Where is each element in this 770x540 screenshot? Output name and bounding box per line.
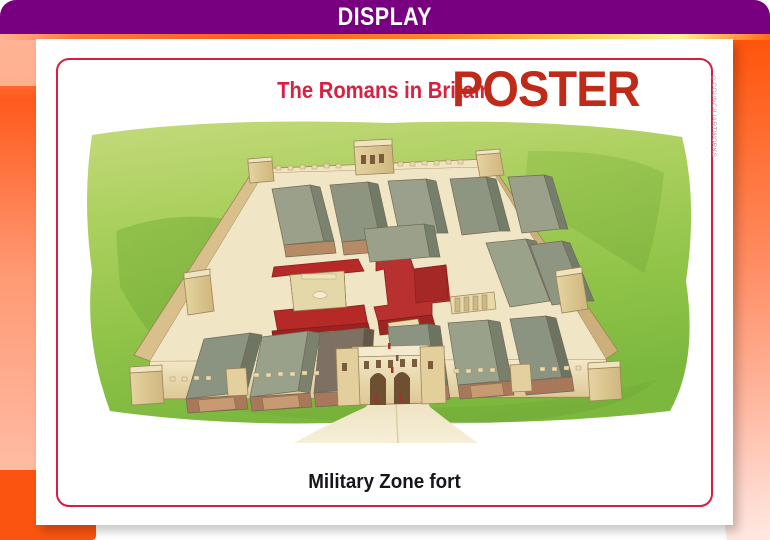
screenshot-root: DISPLAY The Romans in Britain POSTER ©CO… — [0, 0, 770, 540]
display-header-title: DISPLAY — [338, 3, 432, 32]
illustration-caption: Military Zone fort — [57, 471, 712, 494]
poster-overlay-label: POSTER — [452, 64, 640, 114]
display-header-bar: DISPLAY — [0, 0, 770, 34]
roman-fort-illustration — [58, 111, 711, 449]
poster-card[interactable]: The Romans in Britain POSTER ©COUNCIL/AR… — [36, 39, 733, 525]
main-gatehouse — [336, 345, 446, 406]
copyright-notice: ©COUNCIL/ARTWORKS — [710, 75, 717, 157]
